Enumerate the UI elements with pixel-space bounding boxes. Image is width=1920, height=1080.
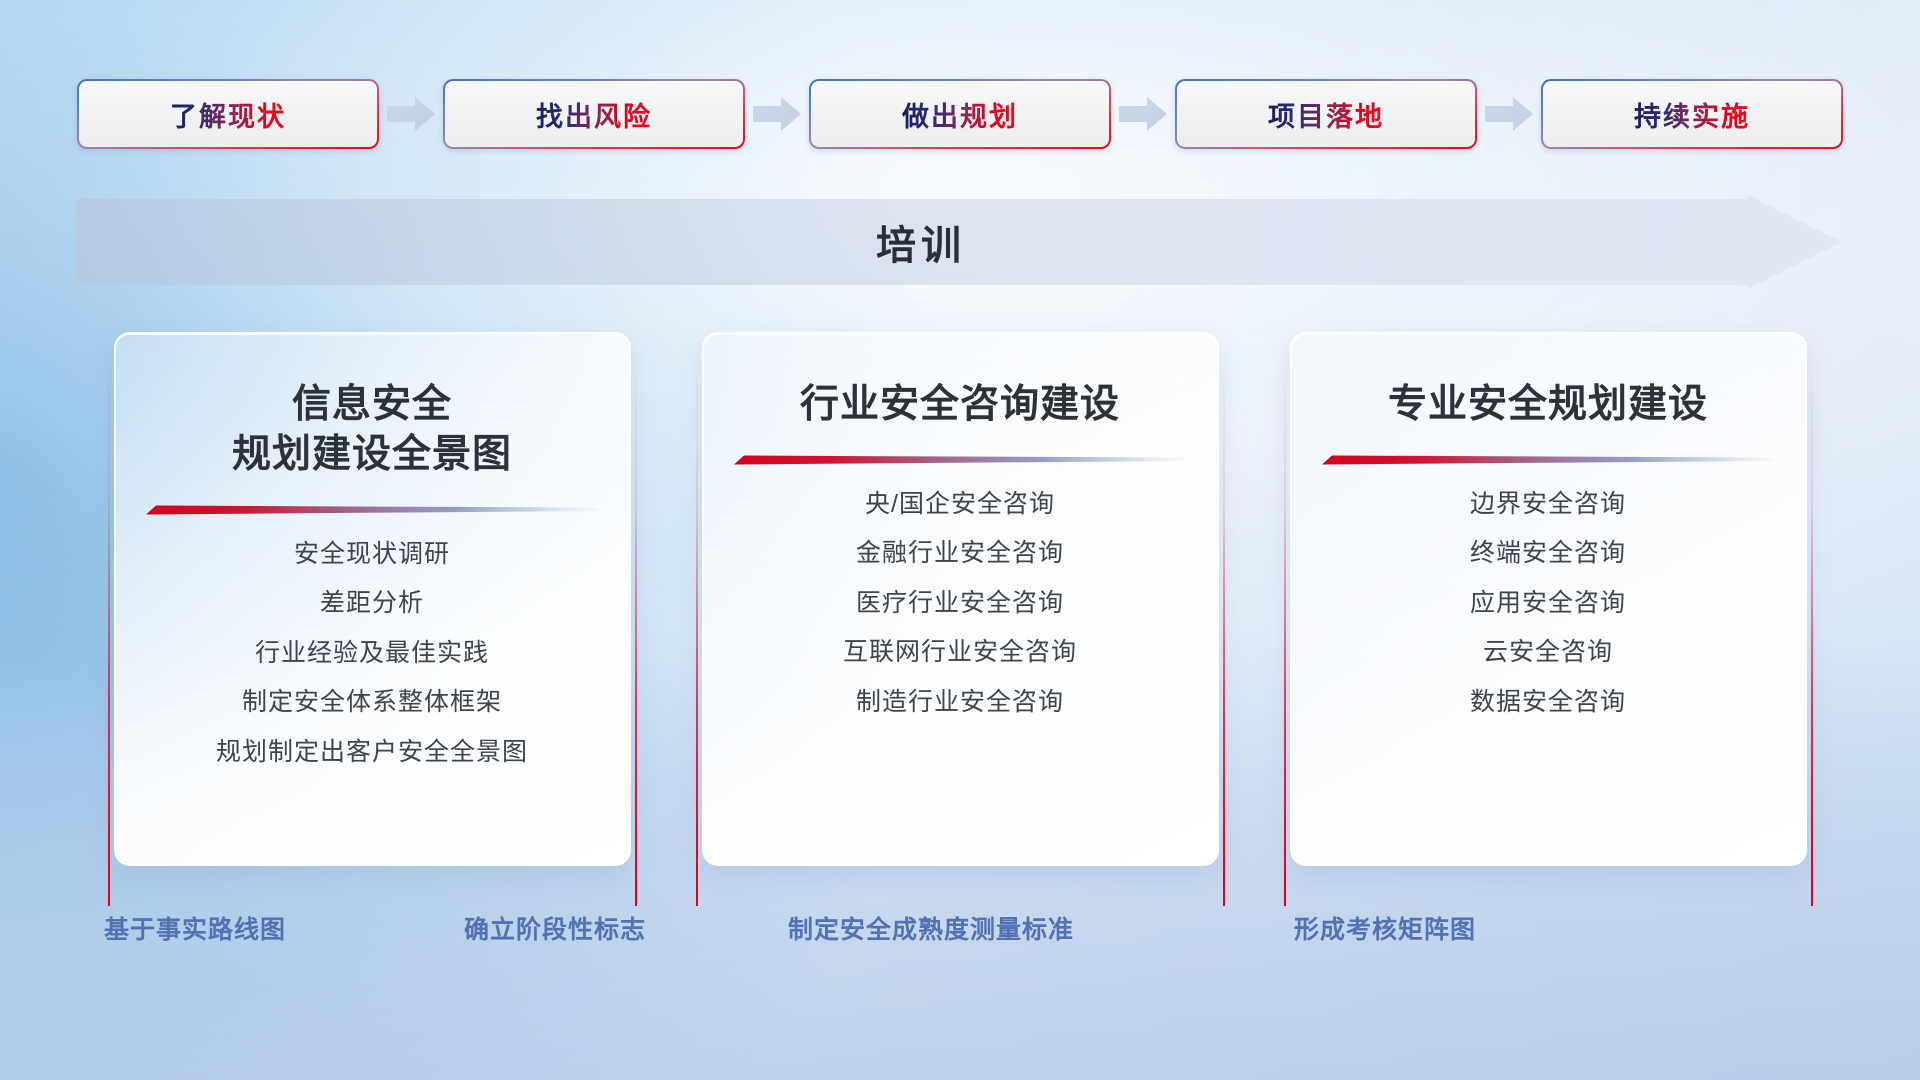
card-divider-line bbox=[734, 452, 1186, 470]
process-step-surface: 做出规划 bbox=[811, 81, 1109, 147]
service-card-body: 专业安全规划建设边界安全咨询终端安全咨询应用安全咨询云安全咨询数据安全咨询 bbox=[1290, 332, 1807, 866]
training-banner: 培训 bbox=[76, 195, 1842, 289]
service-card-list: 边界安全咨询终端安全咨询应用安全咨询云安全咨询数据安全咨询 bbox=[1318, 484, 1779, 723]
footnote-label-1: 基于事实路线图 bbox=[104, 910, 286, 946]
process-step-label: 找出风险 bbox=[536, 95, 652, 134]
list-item: 金融行业安全咨询 bbox=[856, 533, 1064, 574]
list-item: 央/国企安全咨询 bbox=[865, 484, 1055, 525]
list-item: 制定安全体系整体框架 bbox=[242, 682, 502, 723]
process-step-2[interactable]: 找出风险 bbox=[443, 79, 745, 149]
card-divider-line bbox=[146, 502, 598, 520]
process-step-label: 持续实施 bbox=[1634, 95, 1750, 134]
footnote-label-2: 确立阶段性标志 bbox=[464, 910, 646, 946]
process-step-row: 了解现状找出风险做出规划项目落地持续实施 bbox=[0, 78, 1920, 150]
card-accent-line-right bbox=[1223, 354, 1225, 906]
process-step-label: 做出规划 bbox=[902, 95, 1018, 134]
service-card-list: 安全现状调研差距分析行业经验及最佳实践制定安全体系整体框架规划制定出客户安全全景… bbox=[142, 534, 603, 773]
process-step-surface: 项目落地 bbox=[1177, 81, 1475, 147]
card-accent-line-right bbox=[635, 354, 637, 906]
footnote-label-4: 形成考核矩阵图 bbox=[1294, 910, 1476, 946]
list-item: 边界安全咨询 bbox=[1470, 484, 1626, 525]
list-item: 医疗行业安全咨询 bbox=[856, 583, 1064, 624]
service-card-2[interactable]: 行业安全咨询建设央/国企安全咨询金融行业安全咨询医疗行业安全咨询互联网行业安全咨… bbox=[696, 332, 1225, 878]
process-step-5[interactable]: 持续实施 bbox=[1541, 79, 1843, 149]
process-step-surface: 持续实施 bbox=[1543, 81, 1841, 147]
service-card-1[interactable]: 信息安全 规划建设全景图安全现状调研差距分析行业经验及最佳实践制定安全体系整体框… bbox=[108, 332, 637, 878]
list-item: 终端安全咨询 bbox=[1470, 533, 1626, 574]
card-accent-line-right bbox=[1811, 354, 1813, 906]
list-item: 差距分析 bbox=[320, 583, 424, 624]
card-accent-line-left bbox=[696, 354, 698, 906]
list-item: 行业经验及最佳实践 bbox=[255, 633, 489, 674]
banner-title: 培训 bbox=[76, 195, 1766, 289]
footnote-row: 基于事实路线图确立阶段性标志制定安全成熟度测量标准形成考核矩阵图 bbox=[0, 910, 1920, 966]
card-accent-line-left bbox=[108, 354, 110, 906]
arrow-right-icon bbox=[745, 91, 809, 137]
service-card-body: 行业安全咨询建设央/国企安全咨询金融行业安全咨询医疗行业安全咨询互联网行业安全咨… bbox=[702, 332, 1219, 866]
list-item: 云安全咨询 bbox=[1483, 632, 1613, 673]
service-card-3[interactable]: 专业安全规划建设边界安全咨询终端安全咨询应用安全咨询云安全咨询数据安全咨询 bbox=[1284, 332, 1813, 878]
list-item: 数据安全咨询 bbox=[1470, 682, 1626, 723]
service-card-body: 信息安全 规划建设全景图安全现状调研差距分析行业经验及最佳实践制定安全体系整体框… bbox=[114, 332, 631, 866]
list-item: 规划制定出客户安全全景图 bbox=[216, 732, 528, 773]
list-item: 制造行业安全咨询 bbox=[856, 682, 1064, 723]
card-row: 信息安全 规划建设全景图安全现状调研差距分析行业经验及最佳实践制定安全体系整体框… bbox=[0, 332, 1920, 890]
list-item: 应用安全咨询 bbox=[1470, 583, 1626, 624]
process-step-surface: 了解现状 bbox=[79, 81, 377, 147]
process-step-3[interactable]: 做出规划 bbox=[809, 79, 1111, 149]
arrow-right-icon bbox=[1111, 91, 1175, 137]
footnote-label-3: 制定安全成熟度测量标准 bbox=[788, 910, 1074, 946]
arrow-right-icon bbox=[379, 91, 443, 137]
process-step-1[interactable]: 了解现状 bbox=[77, 79, 379, 149]
process-step-surface: 找出风险 bbox=[445, 81, 743, 147]
arrow-right-icon bbox=[1477, 91, 1541, 137]
service-card-title: 专业安全规划建设 bbox=[1388, 380, 1708, 430]
list-item: 安全现状调研 bbox=[294, 534, 450, 575]
card-accent-line-left bbox=[1284, 354, 1286, 906]
process-step-label: 项目落地 bbox=[1268, 95, 1384, 134]
service-card-title: 信息安全 规划建设全景图 bbox=[232, 380, 512, 480]
process-step-4[interactable]: 项目落地 bbox=[1175, 79, 1477, 149]
service-card-list: 央/国企安全咨询金融行业安全咨询医疗行业安全咨询互联网行业安全咨询制造行业安全咨… bbox=[730, 484, 1191, 723]
list-item: 互联网行业安全咨询 bbox=[843, 632, 1077, 673]
process-step-label: 了解现状 bbox=[170, 95, 286, 134]
service-card-title: 行业安全咨询建设 bbox=[800, 380, 1120, 430]
card-divider-line bbox=[1322, 452, 1774, 470]
